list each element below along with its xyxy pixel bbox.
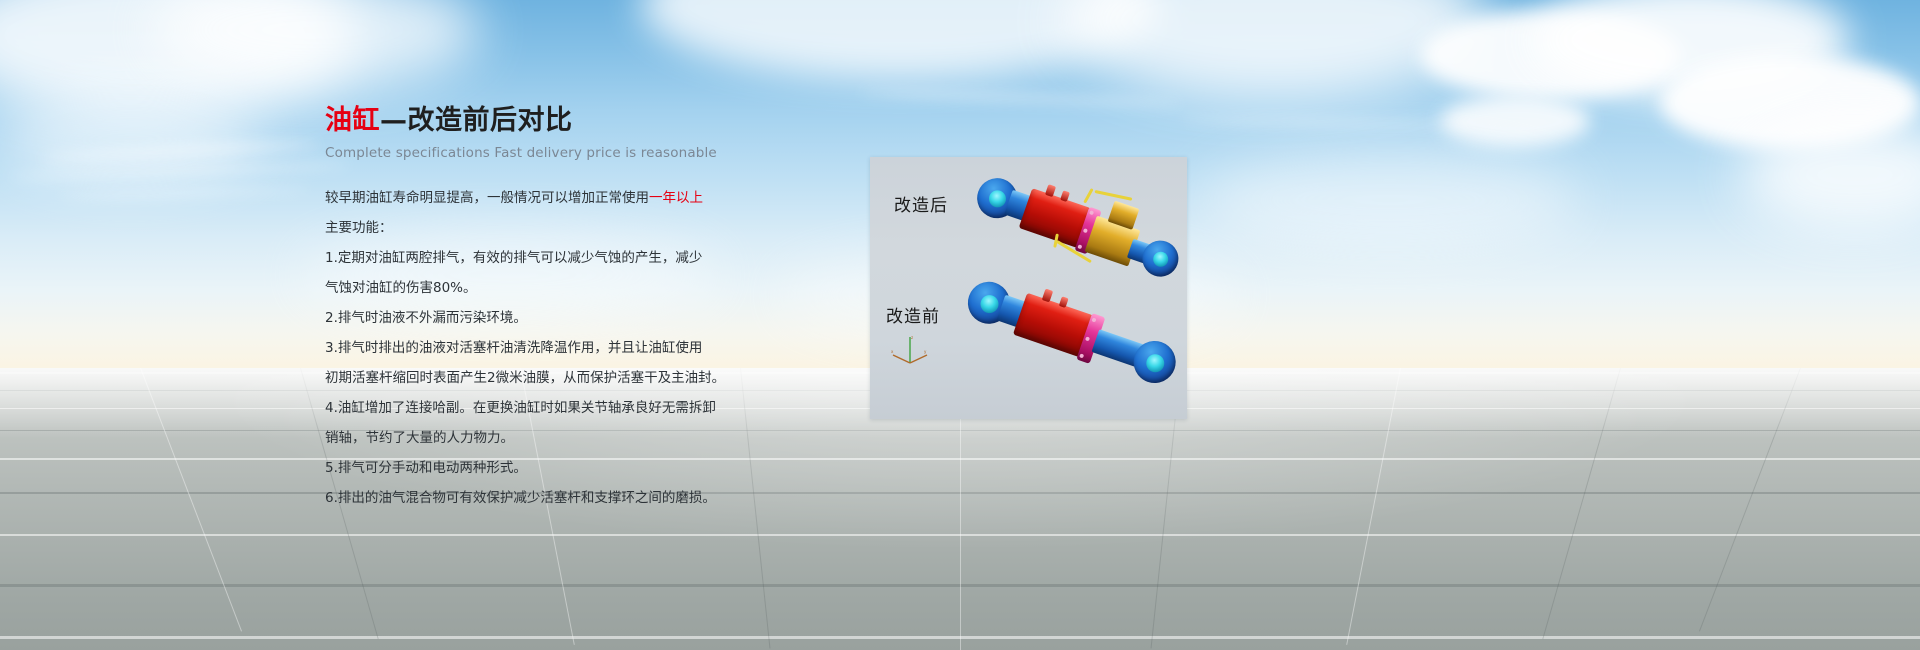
banner-stage: 油缸—改造前后对比 Complete specifications Fast d… bbox=[0, 0, 1920, 650]
cloud-shape bbox=[1200, 150, 1580, 250]
page-title-rest: —改造前后对比 bbox=[380, 105, 573, 136]
feature-line: 1.定期对油缸两腔排气，有效的排气可以减少气蚀的产生，减少 bbox=[325, 245, 745, 271]
feature-line: 4.油缸增加了连接哈副。在更换油缸时如果关节轴承良好无需拆卸 bbox=[325, 395, 745, 421]
feature-line: 6.排出的油气混合物可有效保护减少活塞杆和支撑环之间的磨损。 bbox=[325, 485, 745, 511]
svg-text:y: y bbox=[924, 349, 927, 354]
banner-copy: 油缸—改造前后对比 Complete specifications Fast d… bbox=[325, 104, 745, 515]
page-subtitle: Complete specifications Fast delivery pr… bbox=[325, 145, 745, 161]
cloud-streak bbox=[860, 89, 1180, 106]
feature-list: 较早期油缸寿命明显提高，一般情况可以增加正常使用一年以上 主要功能： 1.定期对… bbox=[325, 185, 745, 511]
feature-line: 销轴，节约了大量的人力物力。 bbox=[325, 425, 745, 451]
cylinder-before-assembly bbox=[955, 267, 1185, 392]
label-before-modification: 改造前 bbox=[886, 302, 940, 327]
cloud-streak bbox=[1180, 117, 1480, 127]
label-after-modification: 改造后 bbox=[894, 191, 948, 216]
feature-line: 5.排气可分手动和电动两种形式。 bbox=[325, 455, 745, 481]
coordinate-axis-icon: z x y bbox=[890, 333, 930, 369]
feature-line: 主要功能： bbox=[325, 215, 745, 241]
cloud-shape bbox=[1440, 95, 1590, 147]
feature-line: 初期活塞杆缩回时表面产生2微米油膜，从而保护活塞干及主油封。 bbox=[325, 365, 745, 391]
feature-line: 较早期油缸寿命明显提高，一般情况可以增加正常使用一年以上 bbox=[325, 185, 745, 211]
svg-text:x: x bbox=[891, 349, 894, 354]
svg-text:z: z bbox=[911, 335, 913, 340]
feature-line: 气蚀对油缸的伤害80%。 bbox=[325, 275, 745, 301]
feature-line-highlight: 一年以上 bbox=[649, 190, 703, 206]
cloud-streak bbox=[60, 187, 310, 199]
feature-line: 2.排气时油液不外漏而污染环境。 bbox=[325, 305, 745, 331]
page-title: 油缸—改造前后对比 bbox=[325, 104, 745, 138]
cad-comparison-panel: 改造后 改造前 z x y bbox=[870, 157, 1187, 419]
feature-line-text: 较早期油缸寿命明显提高，一般情况可以增加正常使用 bbox=[325, 190, 649, 206]
page-title-highlight: 油缸 bbox=[325, 105, 380, 136]
exhaust-tube bbox=[1095, 190, 1133, 201]
exhaust-tube bbox=[1083, 188, 1093, 203]
feature-line: 3.排气时排出的油液对活塞杆油清洗降温作用，并且让油缸使用 bbox=[325, 335, 745, 361]
